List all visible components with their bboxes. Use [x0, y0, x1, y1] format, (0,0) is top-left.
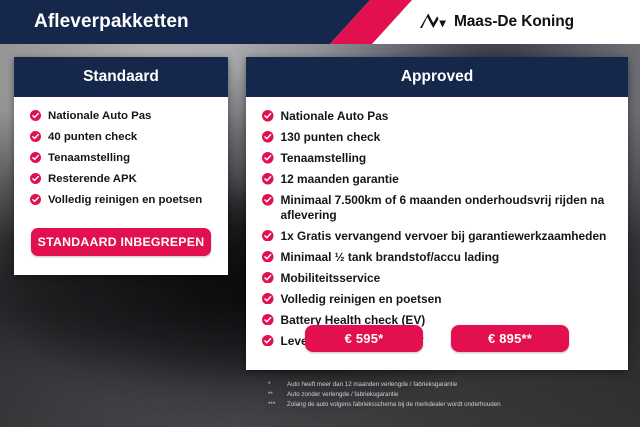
check-circle-icon	[262, 173, 274, 185]
feature-label: Nationale Auto Pas	[48, 109, 151, 123]
check-circle-icon	[262, 194, 274, 206]
footnote-text: Zolang de auto volgens fabrieksschema bi…	[287, 400, 501, 410]
price-button-2[interactable]: € 895**	[451, 325, 569, 352]
check-circle-icon	[30, 194, 41, 205]
check-circle-icon	[30, 110, 41, 121]
price-button-1[interactable]: € 595*	[305, 325, 423, 352]
check-circle-icon	[262, 272, 274, 284]
card-title-approved: Approved	[246, 57, 628, 97]
footnote-marker: ***	[268, 400, 281, 410]
check-circle-icon	[30, 131, 41, 142]
feature-list-approved: Nationale Auto Pas130 punten checkTenaam…	[246, 109, 628, 355]
feature-label: Resterende APK	[48, 172, 137, 186]
footnote-marker: **	[268, 390, 281, 400]
price-button-row: € 595*€ 895**	[246, 325, 628, 352]
check-circle-icon	[262, 152, 274, 164]
feature-label: Nationale Auto Pas	[281, 109, 389, 124]
feature-item: Resterende APK	[14, 172, 228, 193]
feature-item: 40 punten check	[14, 130, 228, 151]
package-card-standard: Standaard Nationale Auto Pas40 punten ch…	[14, 57, 228, 275]
check-circle-icon	[262, 230, 274, 242]
feature-item: 12 maanden garantie	[246, 172, 628, 193]
check-circle-icon	[262, 314, 274, 326]
maas-de-koning-m-logo-icon	[420, 12, 446, 32]
standaard-inbegrepen-button[interactable]: STANDAARD INBEGREPEN	[31, 228, 211, 256]
feature-item: 1x Gratis vervangend vervoer bij garanti…	[246, 229, 628, 250]
footnote-marker: *	[268, 380, 281, 390]
feature-label: Minimaal 7.500km of 6 maanden onderhouds…	[281, 193, 617, 222]
card-title-standard: Standaard	[14, 57, 228, 97]
check-circle-icon	[262, 293, 274, 305]
feature-label: Tenaamstelling	[281, 151, 367, 166]
check-circle-icon	[262, 110, 274, 122]
feature-label: 40 punten check	[48, 130, 137, 144]
footnote-row: *Auto heeft meer dan 12 maanden verlengd…	[268, 380, 634, 390]
feature-label: 12 maanden garantie	[281, 172, 399, 187]
feature-item: Minimaal ½ tank brandstof/accu lading	[246, 250, 628, 271]
check-circle-icon	[262, 131, 274, 143]
page-title: Afleverpakketten	[34, 0, 189, 44]
footnote-row: ***Zolang de auto volgens fabrieksschema…	[268, 400, 634, 410]
feature-item: Volledig reinigen en poetsen	[14, 193, 228, 214]
page-header: Afleverpakketten Maas-De Koning	[0, 0, 640, 44]
feature-item: Nationale Auto Pas	[246, 109, 628, 130]
feature-item: Tenaamstelling	[14, 151, 228, 172]
feature-item: Tenaamstelling	[246, 151, 628, 172]
feature-item: Volledig reinigen en poetsen	[246, 292, 628, 313]
brand-name: Maas-De Koning	[454, 13, 574, 31]
feature-item: Mobiliteitsservice	[246, 271, 628, 292]
feature-label: Tenaamstelling	[48, 151, 130, 165]
footnote-text: Auto heeft meer dan 12 maanden verlengde…	[287, 380, 457, 390]
check-circle-icon	[262, 251, 274, 263]
feature-item: 130 punten check	[246, 130, 628, 151]
footnote-text: Auto zonder verlengde / fabrieksgarantie	[287, 390, 398, 400]
feature-label: Mobiliteitsservice	[281, 271, 381, 286]
feature-item: Nationale Auto Pas	[14, 109, 228, 130]
feature-item: Minimaal 7.500km of 6 maanden onderhouds…	[246, 193, 628, 229]
feature-label: 130 punten check	[281, 130, 381, 145]
afleverpakketten-banner: Afleverpakketten Maas-De Koning Standaar…	[0, 0, 640, 427]
check-circle-icon	[30, 152, 41, 163]
feature-label: Minimaal ½ tank brandstof/accu lading	[281, 250, 500, 265]
package-card-approved: Approved Nationale Auto Pas130 punten ch…	[246, 57, 628, 370]
check-circle-icon	[30, 173, 41, 184]
feature-label: 1x Gratis vervangend vervoer bij garanti…	[281, 229, 607, 244]
brand-logo: Maas-De Koning	[420, 0, 574, 44]
footnote-row: **Auto zonder verlengde / fabrieksgarant…	[268, 390, 634, 400]
footnotes: *Auto heeft meer dan 12 maanden verlengd…	[268, 380, 634, 410]
feature-label: Volledig reinigen en poetsen	[48, 193, 202, 207]
feature-label: Volledig reinigen en poetsen	[281, 292, 442, 307]
feature-list-standard: Nationale Auto Pas40 punten checkTenaams…	[14, 109, 228, 214]
